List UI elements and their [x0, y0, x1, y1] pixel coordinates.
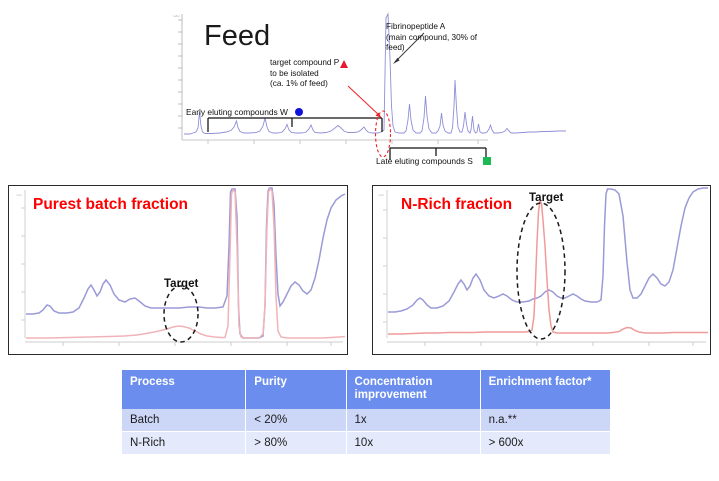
table-cell-purity: > 80% [246, 432, 346, 455]
table-row: N-Rich > 80% 10x > 600x [122, 432, 610, 455]
target-compound-highlight-ellipse [376, 111, 391, 157]
left-panel-y-ticks [21, 208, 25, 320]
feed-y-ticks [178, 20, 182, 128]
left-panel-axis-unit: mAU [16, 193, 22, 197]
right-panel-x-ticks [425, 342, 693, 346]
results-table: Process Purity Concentration improvement… [122, 370, 610, 455]
early-eluting-bracket [208, 118, 382, 132]
late-eluting-label: Late eluting compounds S [376, 156, 473, 166]
right-panel-target-trace [388, 200, 708, 334]
table-cell-concentration: 1x [346, 409, 480, 432]
left-panel-target-ellipse [164, 286, 198, 342]
slide-root: mAU [0, 0, 719, 481]
table-header-process: Process [122, 370, 246, 409]
table-header-row: Process Purity Concentration improvement… [122, 370, 610, 409]
n-rich-fraction-title: N-Rich fraction [401, 196, 512, 214]
right-panel-y-ticks [383, 210, 387, 322]
table-header-concentration-improvement: Concentration improvement [346, 370, 480, 409]
target-compound-arrow [348, 86, 382, 118]
table-header-enrichment-factor: Enrichment factor* [480, 370, 610, 409]
target-compound-annotation: target compound P to be isolated (ca. 1%… [270, 58, 339, 90]
left-panel-x-ticks [63, 342, 331, 346]
table-cell-enrichment: > 600x [480, 432, 610, 455]
table-header-purity: Purity [246, 370, 346, 409]
feed-y-top-tick-label: mAU [173, 14, 180, 18]
feed-chromatogram: mAU [168, 8, 568, 173]
left-panel-target-label: Target [164, 278, 198, 290]
feed-chart-title: Feed [204, 20, 270, 53]
purest-batch-fraction-title: Purest batch fraction [33, 196, 188, 214]
table-cell-process: Batch [122, 409, 246, 432]
n-rich-fraction-panel: mAU N-Rich fraction Target [372, 185, 711, 355]
right-panel-target-ellipse [517, 203, 565, 339]
table-row: Batch < 20% 1x n.a.** [122, 409, 610, 432]
table-cell-process: N-Rich [122, 432, 246, 455]
right-panel-axis-unit: mAU [378, 193, 384, 197]
early-eluting-label: Early eluting compounds W [186, 107, 288, 117]
table-cell-purity: < 20% [246, 409, 346, 432]
early-eluting-annotation: Early eluting compounds W [186, 107, 288, 118]
late-eluting-annotation: Late eluting compounds S [376, 156, 473, 167]
table-cell-enrichment: n.a.** [480, 409, 610, 432]
purest-batch-fraction-panel: mAU Purest batch fraction Target [8, 185, 348, 355]
green-square-marker [483, 157, 491, 165]
fibrinopeptide-annotation: Fibrinopeptide A (main compound, 30% of … [386, 22, 477, 54]
table-cell-concentration: 10x [346, 432, 480, 455]
blue-circle-marker [295, 108, 303, 116]
right-panel-target-label: Target [529, 192, 563, 204]
red-triangle-marker [340, 60, 348, 68]
feed-x-ticks [208, 140, 478, 144]
target-compound-annotation-text: target compound P to be isolated (ca. 1%… [270, 58, 339, 88]
